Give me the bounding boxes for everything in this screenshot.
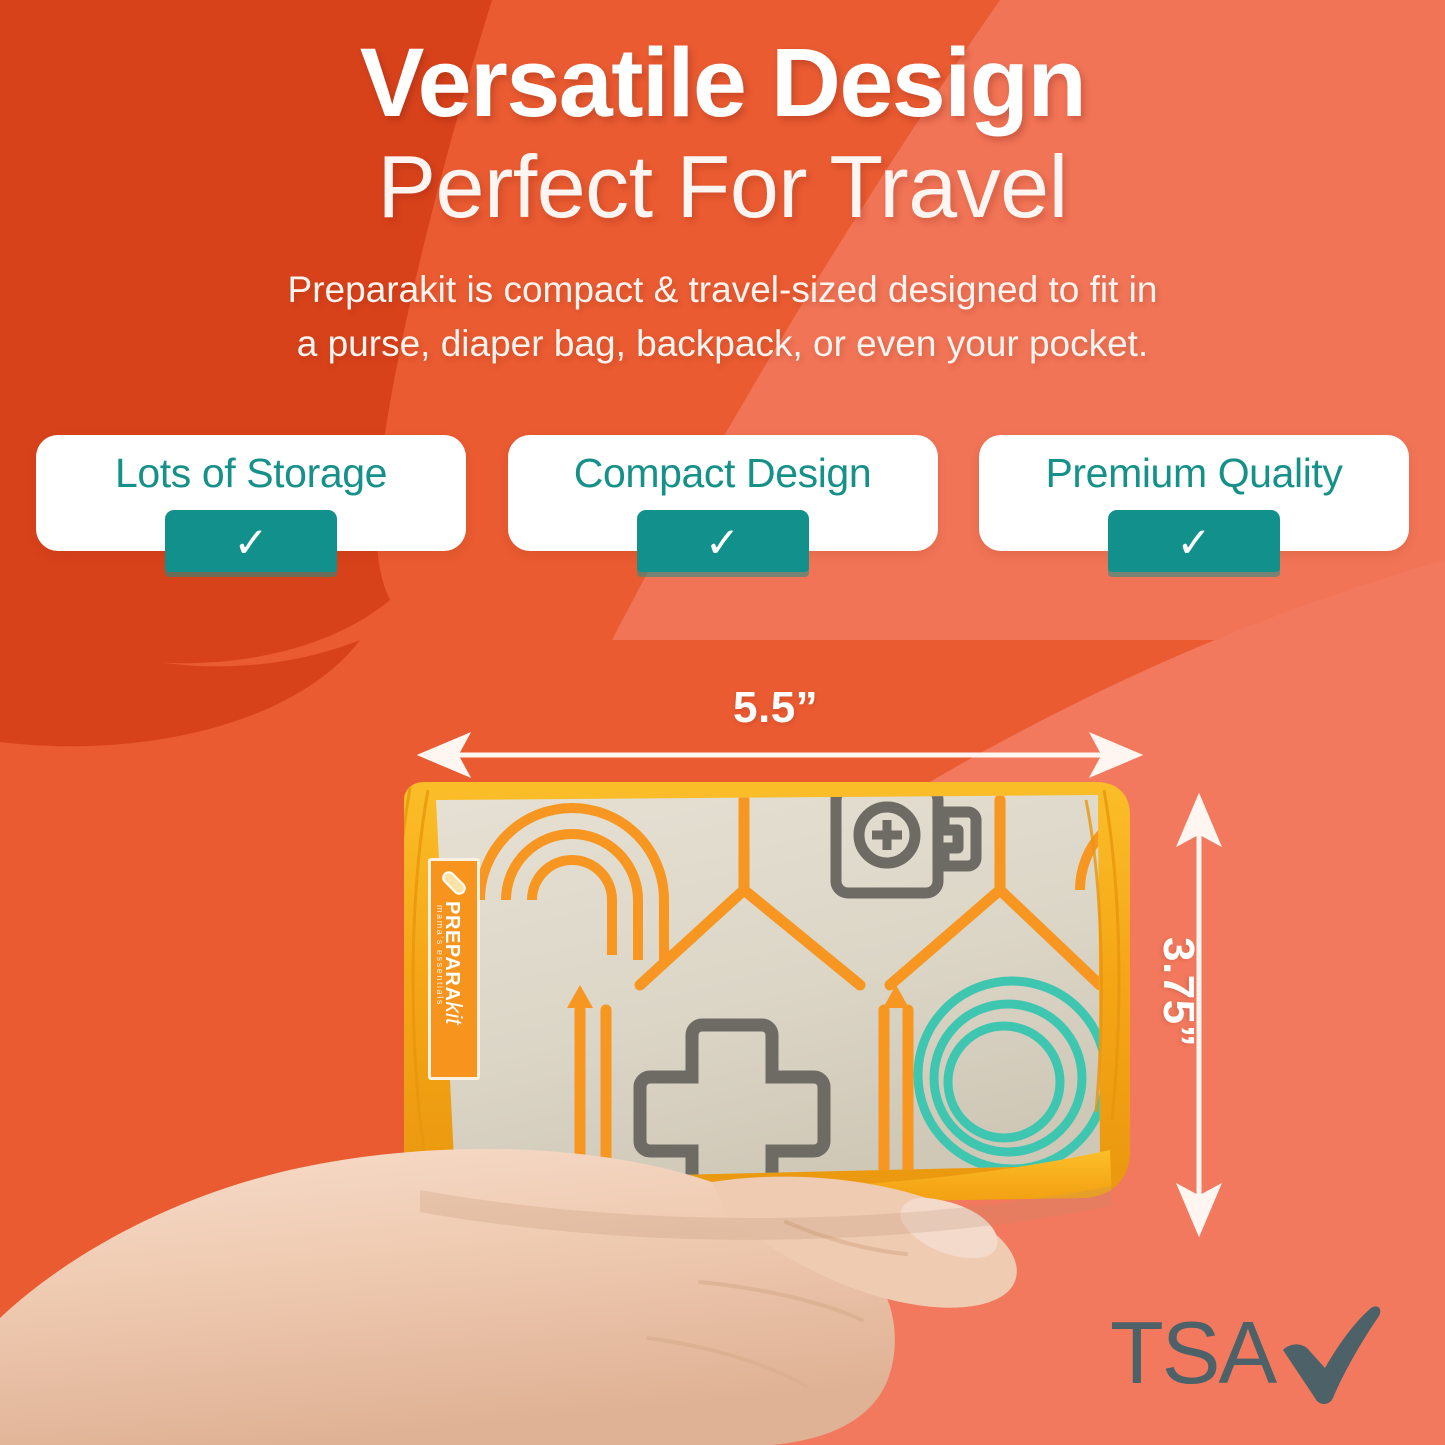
product-infographic: Versatile Design Perfect For Travel Prep… xyxy=(0,0,1445,1445)
tsa-approved-mark: TSA xyxy=(1110,1298,1383,1408)
tsa-text: TSA xyxy=(1110,1309,1275,1397)
check-mark-icon xyxy=(1275,1298,1383,1408)
width-dimension-arrow xyxy=(418,733,1142,777)
width-label: 5.5” xyxy=(733,683,818,733)
dimension-arrows xyxy=(0,0,1445,1445)
height-label: 3.75” xyxy=(1153,937,1203,1047)
